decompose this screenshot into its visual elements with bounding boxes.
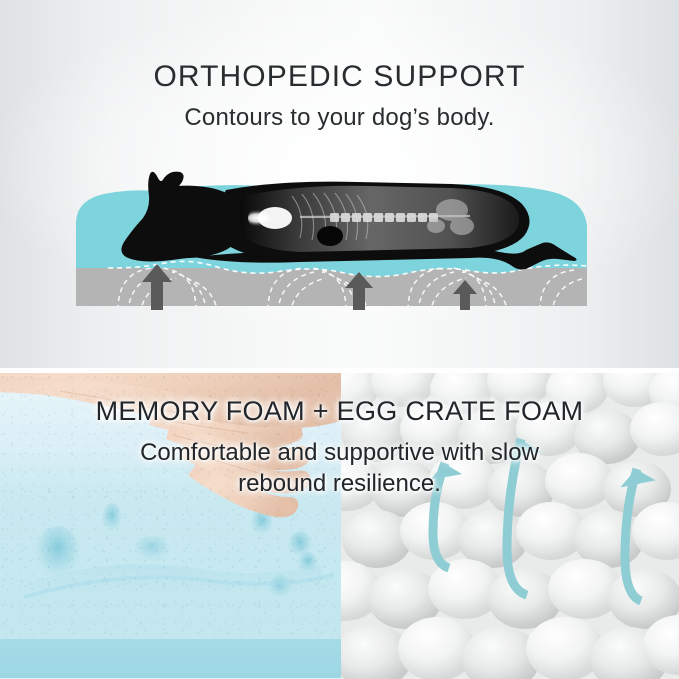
bottom-subtitle-line2: rebound resilience. xyxy=(0,469,679,500)
page-subtitle: Contours to your dog’s body. xyxy=(0,106,679,130)
orthopedic-support-panel: ORTHOPEDIC SUPPORT Contours to your dog’… xyxy=(0,0,679,368)
dog-on-foam-illustration xyxy=(0,160,679,320)
bottom-title: MEMORY FOAM + EGG CRATE FOAM xyxy=(0,398,679,425)
bottom-heading-group: MEMORY FOAM + EGG CRATE FOAM Comfortable… xyxy=(0,398,679,499)
foam-front-edge xyxy=(0,639,341,679)
panel-divider xyxy=(0,368,679,373)
bottom-subtitle-line1: Comfortable and supportive with slow xyxy=(0,438,679,469)
product-infographic: ORTHOPEDIC SUPPORT Contours to your dog’… xyxy=(0,0,679,679)
page-title: ORTHOPEDIC SUPPORT xyxy=(0,62,679,92)
top-heading-group: ORTHOPEDIC SUPPORT Contours to your dog’… xyxy=(0,62,679,130)
